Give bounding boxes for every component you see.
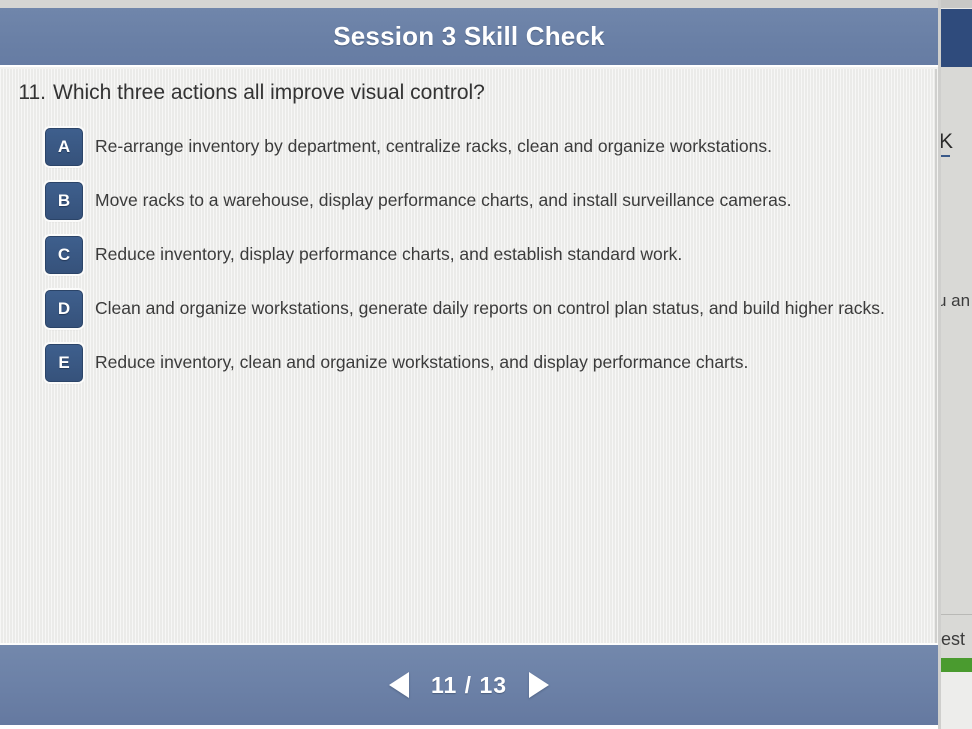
option-text-c[interactable]: Reduce inventory, display performance ch… [95,244,682,265]
slide-navigation: 11 / 13 [389,672,549,699]
answer-option-e[interactable]: E Reduce inventory, clean and organize w… [45,344,925,398]
option-letter-e: E [58,353,69,373]
option-letter-badge-e[interactable]: E [45,344,83,382]
question-content-panel: 11. Which three actions all improve visu… [0,69,937,643]
background-paragraph: u an esti esti ntec e qu [937,288,972,314]
option-letter-badge-a[interactable]: A [45,128,83,166]
option-text-b[interactable]: Move racks to a warehouse, display perfo… [95,190,791,211]
option-text-a[interactable]: Re-arrange inventory by department, cent… [95,136,772,157]
slide-header-bar: Session 3 Skill Check [0,8,938,67]
answer-option-c[interactable]: C Reduce inventory, display performance … [45,236,925,290]
background-window-header [940,9,972,67]
page-title: Session 3 Skill Check [333,21,605,52]
background-window-footer [938,672,972,729]
slide-bottom-edge [0,725,938,729]
option-letter-d: D [58,299,70,319]
slide-window: Session 3 Skill Check 11. Which three ac… [0,0,941,729]
background-window-titlebar [938,0,972,8]
answer-option-b[interactable]: B Move racks to a warehouse, display per… [45,182,925,236]
slide-footer-bar: 11 / 13 [0,643,938,725]
option-text-e[interactable]: Reduce inventory, clean and organize wor… [95,352,748,373]
next-slide-icon[interactable] [529,672,549,698]
option-text-d[interactable]: Clean and organize workstations, generat… [95,298,885,319]
option-letter-badge-b[interactable]: B [45,182,83,220]
question-row: 11. Which three actions all improve visu… [0,81,485,105]
answer-options-list: A Re-arrange inventory by department, ce… [45,128,925,398]
background-heading-letter: K [939,130,953,154]
option-letter-c: C [58,245,70,265]
previous-slide-icon[interactable] [389,672,409,698]
answer-option-d[interactable]: D Clean and organize workstations, gener… [45,290,925,344]
option-letter-a: A [58,137,70,157]
background-divider [938,614,972,615]
page-indicator: 11 / 13 [431,672,507,699]
option-letter-badge-d[interactable]: D [45,290,83,328]
answer-option-a[interactable]: A Re-arrange inventory by department, ce… [45,128,925,182]
question-text: Which three actions all improve visual c… [53,81,485,105]
background-button-label[interactable]: est [941,629,965,650]
question-number: 11. [0,81,46,105]
option-letter-b: B [58,191,70,211]
option-letter-badge-c[interactable]: C [45,236,83,274]
